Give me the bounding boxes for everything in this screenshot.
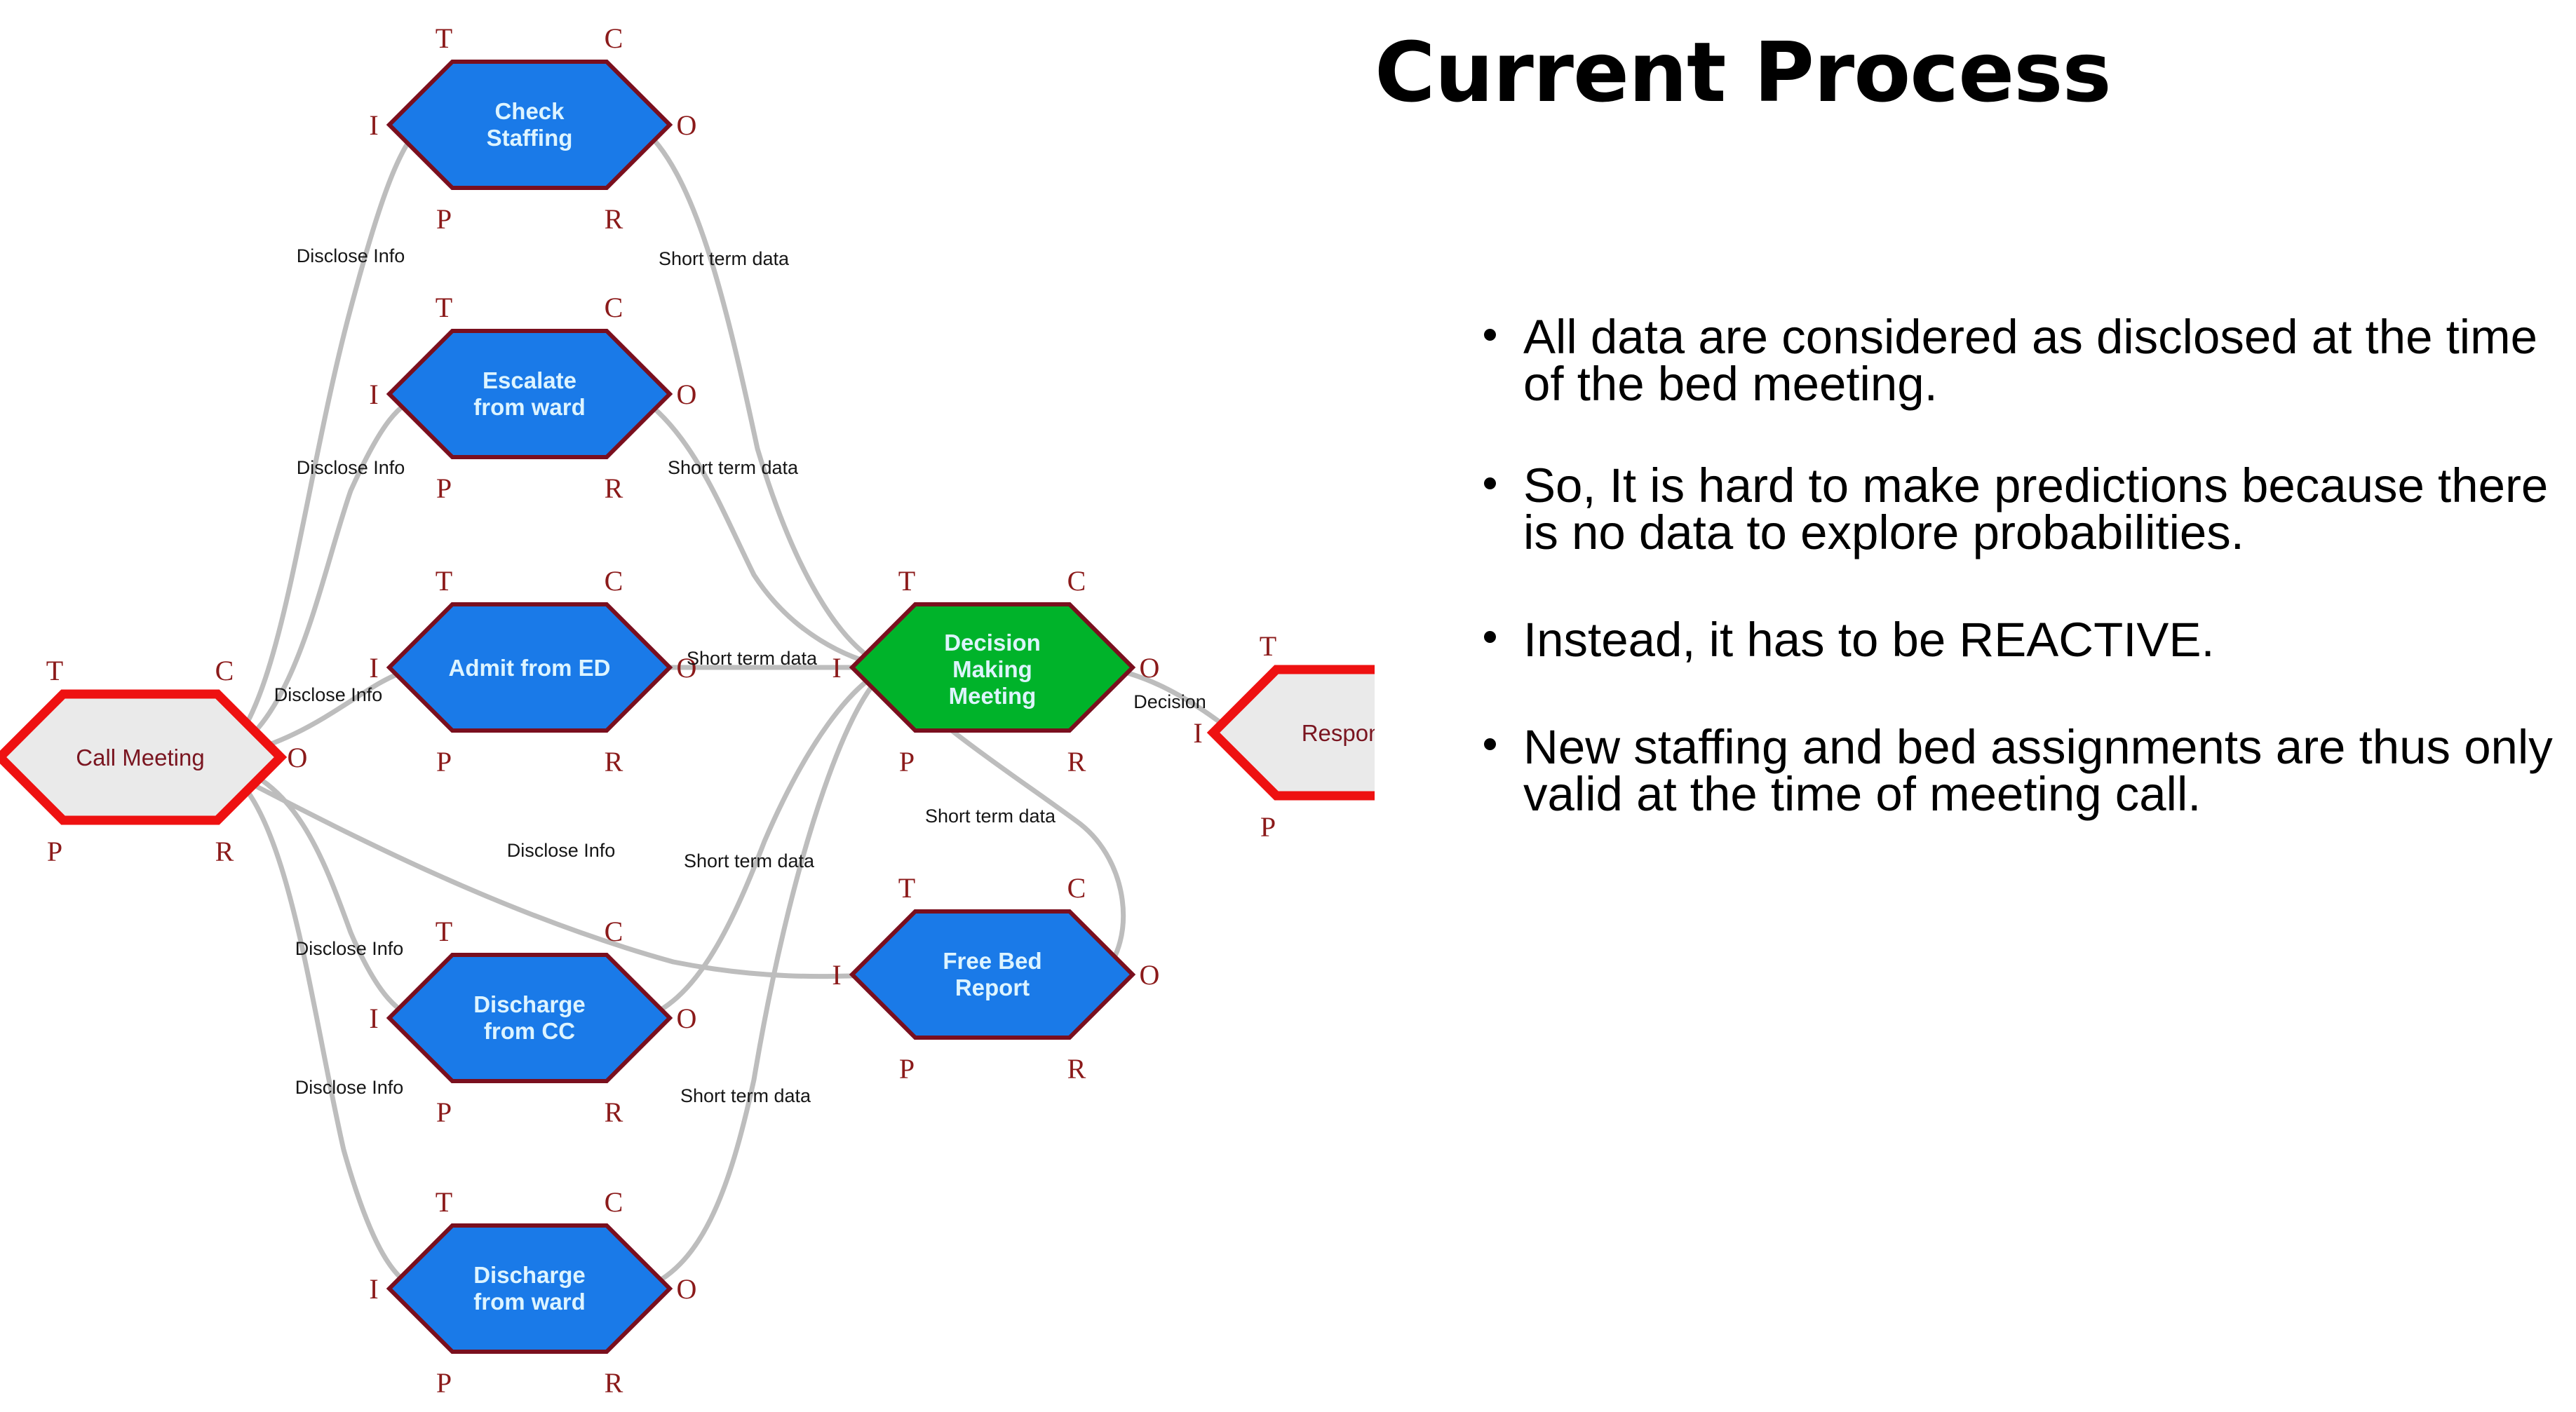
content-pane: Current Process All data are considered … <box>1354 0 2576 1412</box>
port-T-check-staffing: T <box>436 22 452 54</box>
node-label-call-meeting: Call Meeting <box>76 745 204 771</box>
node-label-dmm-line3: Meeting <box>949 683 1037 709</box>
port-C-call-meeting: C <box>215 655 234 686</box>
edge-label-short-3: Short term data <box>687 648 818 669</box>
list-item: Instead, it has to be REACTIVE. <box>1480 617 2574 664</box>
port-C-check-staffing: C <box>605 22 623 54</box>
node-label-discharge-ward-line1: Discharge <box>473 1262 586 1288</box>
port-C-decision-making-meeting: C <box>1067 565 1086 597</box>
node-decision-making-meeting[interactable]: Decision Making Meeting T C I O P R <box>832 565 1159 778</box>
node-label-free-bed-line1: Free Bed <box>943 948 1041 974</box>
node-label-check-staffing-line2: Staffing <box>487 125 573 151</box>
edge-label-disclose-6: Disclose Info <box>507 840 616 861</box>
node-label-free-bed-line2: Report <box>955 975 1030 1000</box>
port-R-call-meeting: R <box>215 836 234 867</box>
list-item: New staffing and bed assignments are thu… <box>1480 724 2574 818</box>
node-check-staffing[interactable]: Check Staffing T C I O P R <box>369 22 696 235</box>
edge-label-short-4: Short term data <box>684 850 815 871</box>
edge-label-disclose-3: Disclose Info <box>274 684 383 705</box>
port-T-call-meeting: T <box>46 655 63 686</box>
port-O-call-meeting: O <box>288 742 308 773</box>
port-P-call-meeting: P <box>47 836 62 867</box>
edge-label-short-2: Short term data <box>668 457 799 478</box>
list-item: So, It is hard to make predictions becau… <box>1480 463 2574 557</box>
node-free-bed-report[interactable]: Free Bed Report T C I O P R <box>832 872 1159 1085</box>
port-P-free-bed-report: P <box>899 1053 915 1085</box>
port-R-free-bed-report: R <box>1067 1053 1086 1085</box>
port-T-response: T <box>1260 630 1276 662</box>
node-admit-from-ed[interactable]: Admit from ED T C I O P R <box>369 565 696 778</box>
port-T-decision-making-meeting: T <box>898 565 915 597</box>
page-title: Current Process <box>1375 29 2539 116</box>
port-C-discharge-from-cc: C <box>605 916 623 947</box>
bullet-dot-icon <box>1484 477 1496 489</box>
node-label-admit-from-ed: Admit from ED <box>449 655 611 681</box>
node-label-discharge-ward-line2: from ward <box>473 1289 586 1315</box>
port-P-check-staffing: P <box>436 203 452 235</box>
node-discharge-from-ward[interactable]: Discharge from ward T C I O P R <box>369 1186 696 1399</box>
bullet-dot-icon <box>1484 329 1496 341</box>
port-I-check-staffing: I <box>369 109 378 141</box>
port-T-escalate-from-ward: T <box>436 292 452 323</box>
node-label-escalate-line2: from ward <box>473 394 586 420</box>
port-I-discharge-from-cc: I <box>369 1003 378 1034</box>
port-I-free-bed-report: I <box>832 959 841 991</box>
port-P-discharge-from-ward: P <box>436 1367 452 1399</box>
node-escalate-from-ward[interactable]: Escalate from ward T C I O P R <box>369 292 696 504</box>
node-label-check-staffing-line1: Check <box>494 98 565 124</box>
bullet-text: All data are considered as disclosed at … <box>1523 310 2537 411</box>
port-R-discharge-from-cc: R <box>605 1097 623 1128</box>
bullet-dot-icon <box>1484 738 1496 750</box>
port-I-escalate-from-ward: I <box>369 379 378 410</box>
port-R-check-staffing: R <box>605 203 623 235</box>
port-O-escalate-from-ward: O <box>677 379 697 410</box>
edge-label-disclose-5: Disclose Info <box>295 1077 404 1098</box>
node-response[interactable]: Response T C I O P R <box>1193 630 1375 843</box>
edge-label-short-5: Short term data <box>680 1085 811 1106</box>
port-C-free-bed-report: C <box>1067 872 1086 904</box>
node-label-dmm-line2: Making <box>952 656 1032 682</box>
port-I-response: I <box>1193 717 1202 749</box>
bullet-text: Instead, it has to be REACTIVE. <box>1523 613 2215 667</box>
edge-short-escalate-ward <box>640 397 886 667</box>
port-P-discharge-from-cc: P <box>436 1097 452 1128</box>
port-I-admit-from-ed: I <box>369 652 378 684</box>
port-O-decision-making-meeting: O <box>1140 652 1160 684</box>
port-O-free-bed-report: O <box>1140 959 1160 991</box>
port-R-discharge-from-ward: R <box>605 1367 623 1399</box>
port-I-discharge-from-ward: I <box>369 1273 378 1305</box>
port-C-discharge-from-ward: C <box>605 1186 623 1218</box>
port-O-discharge-from-ward: O <box>677 1273 697 1305</box>
port-C-admit-from-ed: C <box>605 565 623 597</box>
port-T-discharge-from-ward: T <box>436 1186 452 1218</box>
process-diagram: .hexedge { fill:none; stroke:#bdbdbd; st… <box>0 0 1375 1412</box>
bullet-dot-icon <box>1484 631 1496 643</box>
node-label-discharge-cc-line1: Discharge <box>473 991 586 1017</box>
port-O-check-staffing: O <box>677 109 697 141</box>
node-label-discharge-cc-line2: from CC <box>484 1018 575 1044</box>
edge-label-disclose-1: Disclose Info <box>297 245 405 266</box>
diagram-svg: .hexedge { fill:none; stroke:#bdbdbd; st… <box>0 0 1375 1412</box>
edge-disclose-discharge-cc <box>219 761 421 1020</box>
bullet-text: New staffing and bed assignments are thu… <box>1523 720 2553 821</box>
port-R-escalate-from-ward: R <box>605 473 623 504</box>
edge-disclose-check-staffing <box>219 128 421 756</box>
port-P-decision-making-meeting: P <box>899 746 915 778</box>
port-R-admit-from-ed: R <box>605 746 623 778</box>
edge-label-disclose-2: Disclose Info <box>297 457 405 478</box>
edge-label-short-1: Short term data <box>659 248 790 269</box>
node-label-dmm-line1: Decision <box>944 630 1041 656</box>
edge-label-decision-1: Decision <box>1133 691 1206 712</box>
bullet-text: So, It is hard to make predictions becau… <box>1523 459 2548 559</box>
port-C-escalate-from-ward: C <box>605 292 623 323</box>
edge-label-disclose-4: Disclose Info <box>295 938 404 959</box>
node-label-escalate-line1: Escalate <box>483 367 576 393</box>
list-item: All data are considered as disclosed at … <box>1480 314 2574 408</box>
port-P-escalate-from-ward: P <box>436 473 452 504</box>
port-P-admit-from-ed: P <box>436 746 452 778</box>
bullet-list: All data are considered as disclosed at … <box>1480 314 2574 864</box>
slide-canvas: .hexedge { fill:none; stroke:#bdbdbd; st… <box>0 0 2576 1412</box>
edge-label-short-6: Short term data <box>925 806 1056 827</box>
port-T-admit-from-ed: T <box>436 565 452 597</box>
port-O-discharge-from-cc: O <box>677 1003 697 1034</box>
port-R-decision-making-meeting: R <box>1067 746 1086 778</box>
port-T-free-bed-report: T <box>898 872 915 904</box>
port-T-discharge-from-cc: T <box>436 916 452 947</box>
port-I-decision-making-meeting: I <box>832 652 841 684</box>
edge-disclose-discharge-ward <box>219 764 421 1290</box>
node-discharge-from-cc[interactable]: Discharge from CC T C I O P R <box>369 916 696 1128</box>
port-P-response: P <box>1260 811 1276 843</box>
edge-short-discharge-ward <box>640 672 886 1290</box>
